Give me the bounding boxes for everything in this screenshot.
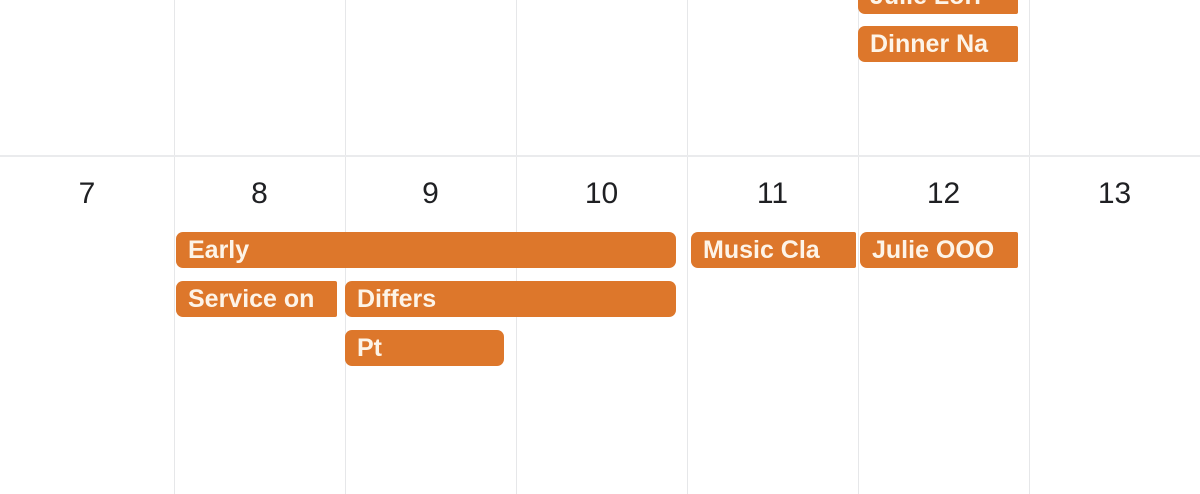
day-number-9[interactable]: 9 [345,177,516,211]
day-number-10[interactable]: 10 [516,177,687,211]
calendar-event[interactable]: Differs [345,281,676,317]
calendar-month-grid[interactable]: Julie Lori Dinner Na 7 8 9 10 11 12 13 E… [0,0,1200,494]
calendar-event[interactable]: Julie OOO [860,232,1018,268]
day-number-13[interactable]: 13 [1029,177,1200,211]
calendar-event[interactable]: Pt [345,330,504,366]
week-row-previous[interactable]: Julie Lori Dinner Na [0,0,1200,155]
calendar-event[interactable]: Early [176,232,676,268]
day-number-11[interactable]: 11 [687,177,858,211]
calendar-event[interactable]: Service on [176,281,337,317]
day-number-8[interactable]: 8 [174,177,345,211]
week-row-current[interactable]: 7 8 9 10 11 12 13 Early Music Cla Julie … [0,157,1200,494]
calendar-event[interactable]: Dinner Na [858,26,1018,62]
calendar-event[interactable]: Julie Lori [858,0,1018,14]
day-number-12[interactable]: 12 [858,177,1029,211]
calendar-event[interactable]: Music Cla [691,232,856,268]
day-number-7[interactable]: 7 [0,177,174,211]
